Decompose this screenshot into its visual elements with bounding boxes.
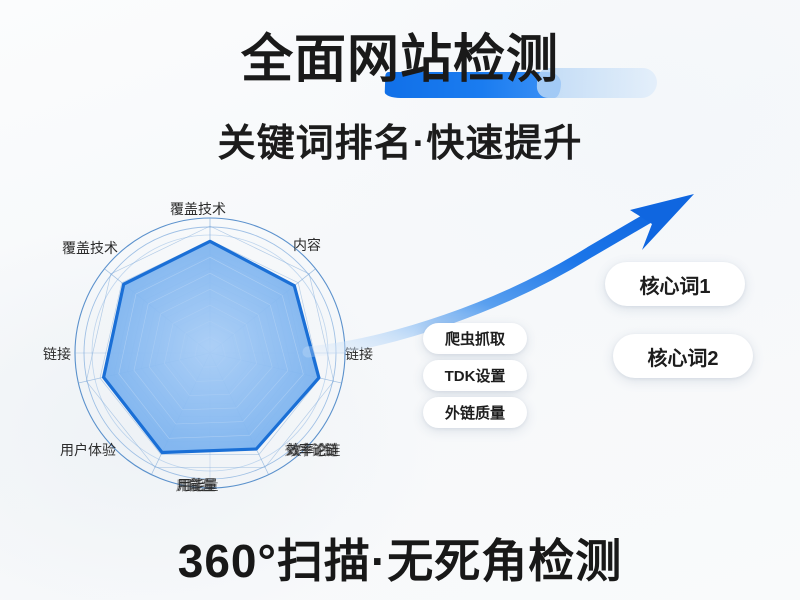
radar-label-top-left: 覆盖技术	[62, 238, 118, 258]
page-title-text: 全面网站检测	[241, 31, 559, 89]
tag-outlink-label: 外链质量	[445, 402, 505, 423]
radar-label-left: 链接	[43, 344, 71, 364]
radar-label-bottom: 用能量	[177, 475, 216, 495]
page-subtitle: 关键词排名·快速提升	[0, 112, 800, 167]
keyword-pill-1-label: 核心词1	[639, 270, 710, 299]
page-title: 全面网站检测	[237, 34, 563, 86]
tag-tdk[interactable]: TDK设置	[423, 360, 527, 391]
radar-label-bottom-right: 效率论链	[286, 440, 338, 460]
radar-label-right: 链接	[345, 344, 373, 364]
radar-data-polygon	[104, 241, 319, 452]
growth-arrow-head	[630, 194, 694, 250]
tag-crawler-label: 爬虫抓取	[445, 328, 505, 349]
page-footer-title: 360°扫描·无死角检测	[0, 525, 800, 591]
keyword-pill-2-label: 核心词2	[647, 342, 718, 371]
title-block: 全面网站检测	[0, 34, 800, 86]
radar-label-bottom-left: 用户体验	[60, 440, 116, 460]
tag-tdk-label: TDK设置	[445, 365, 506, 386]
radar-label-top-right: 内容	[293, 235, 321, 255]
radar-chart: 覆盖技术 内容 链接 效率论链 用能量 用户体验 覆盖技术 链接	[40, 200, 390, 510]
keyword-pill-2[interactable]: 核心词2	[613, 334, 753, 378]
poster-canvas: 全面网站检测 关键词排名·快速提升	[0, 0, 800, 600]
tag-outlink[interactable]: 外链质量	[423, 397, 527, 428]
keyword-pill-1[interactable]: 核心词1	[605, 262, 745, 306]
radar-label-top: 覆盖技术	[170, 199, 226, 219]
tag-crawler[interactable]: 爬虫抓取	[423, 323, 527, 354]
